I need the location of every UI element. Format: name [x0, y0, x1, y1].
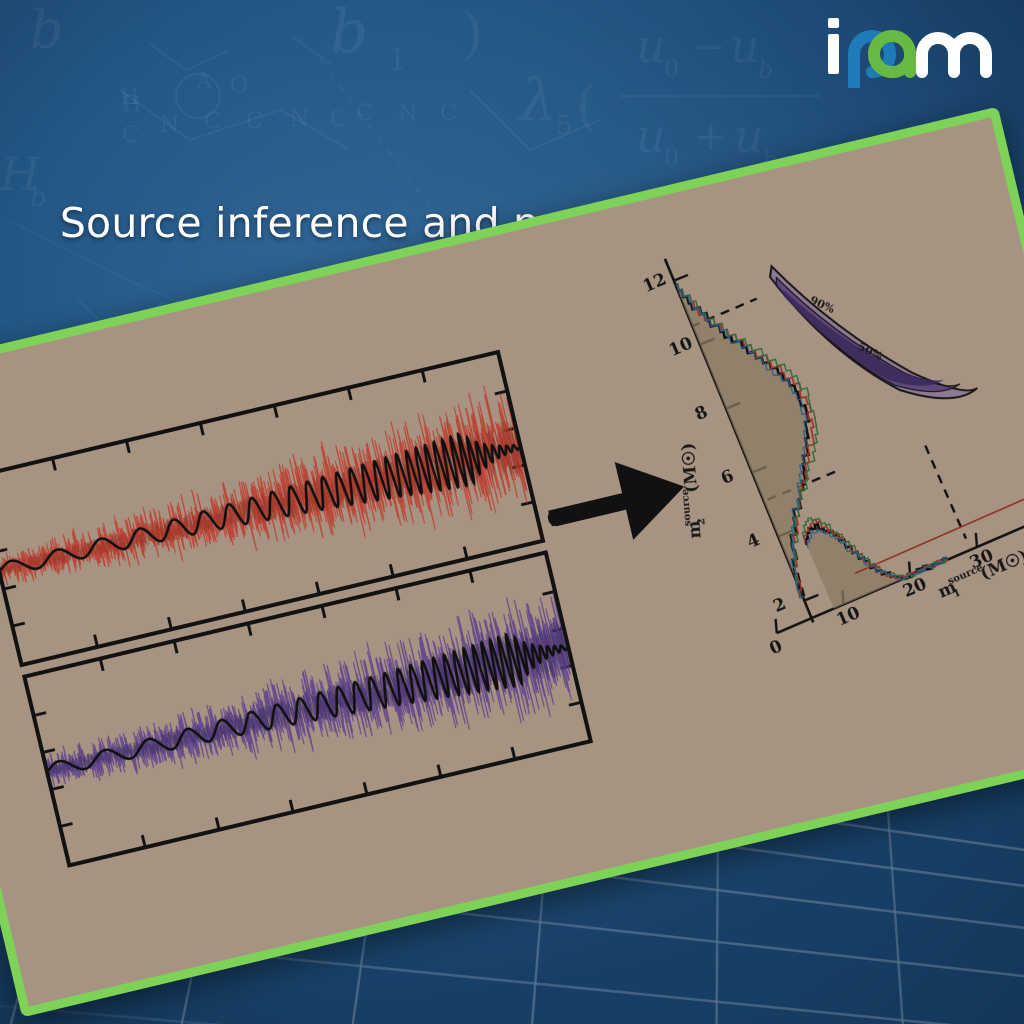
- posterior-svg: 24681012 010203040: [616, 168, 1024, 718]
- marginal-posterior-m1: [800, 489, 953, 612]
- component-mass-posterior-plot: 24681012 010203040: [616, 168, 1024, 718]
- svg-text:0: 0: [767, 636, 786, 659]
- svg-text:10: 10: [666, 333, 696, 361]
- svg-text:4: 4: [744, 530, 763, 553]
- ipam-logo[interactable]: [822, 14, 998, 88]
- y-axis-label: m 2 source (M☉): [676, 442, 708, 540]
- x-axis-label-sub: 1: [952, 587, 963, 600]
- svg-text:12: 12: [640, 269, 670, 297]
- y-axis-label-sub: 2: [696, 518, 708, 526]
- poster-canvas: b b 1 ) H b H b H b μ ∥ ω e λ 5 ( u 0 − …: [0, 0, 1024, 1024]
- svg-text:2: 2: [770, 594, 789, 617]
- y-axis-label-unit: (M☉): [678, 442, 702, 494]
- svg-text:8: 8: [692, 402, 711, 425]
- svg-text:6: 6: [718, 466, 737, 489]
